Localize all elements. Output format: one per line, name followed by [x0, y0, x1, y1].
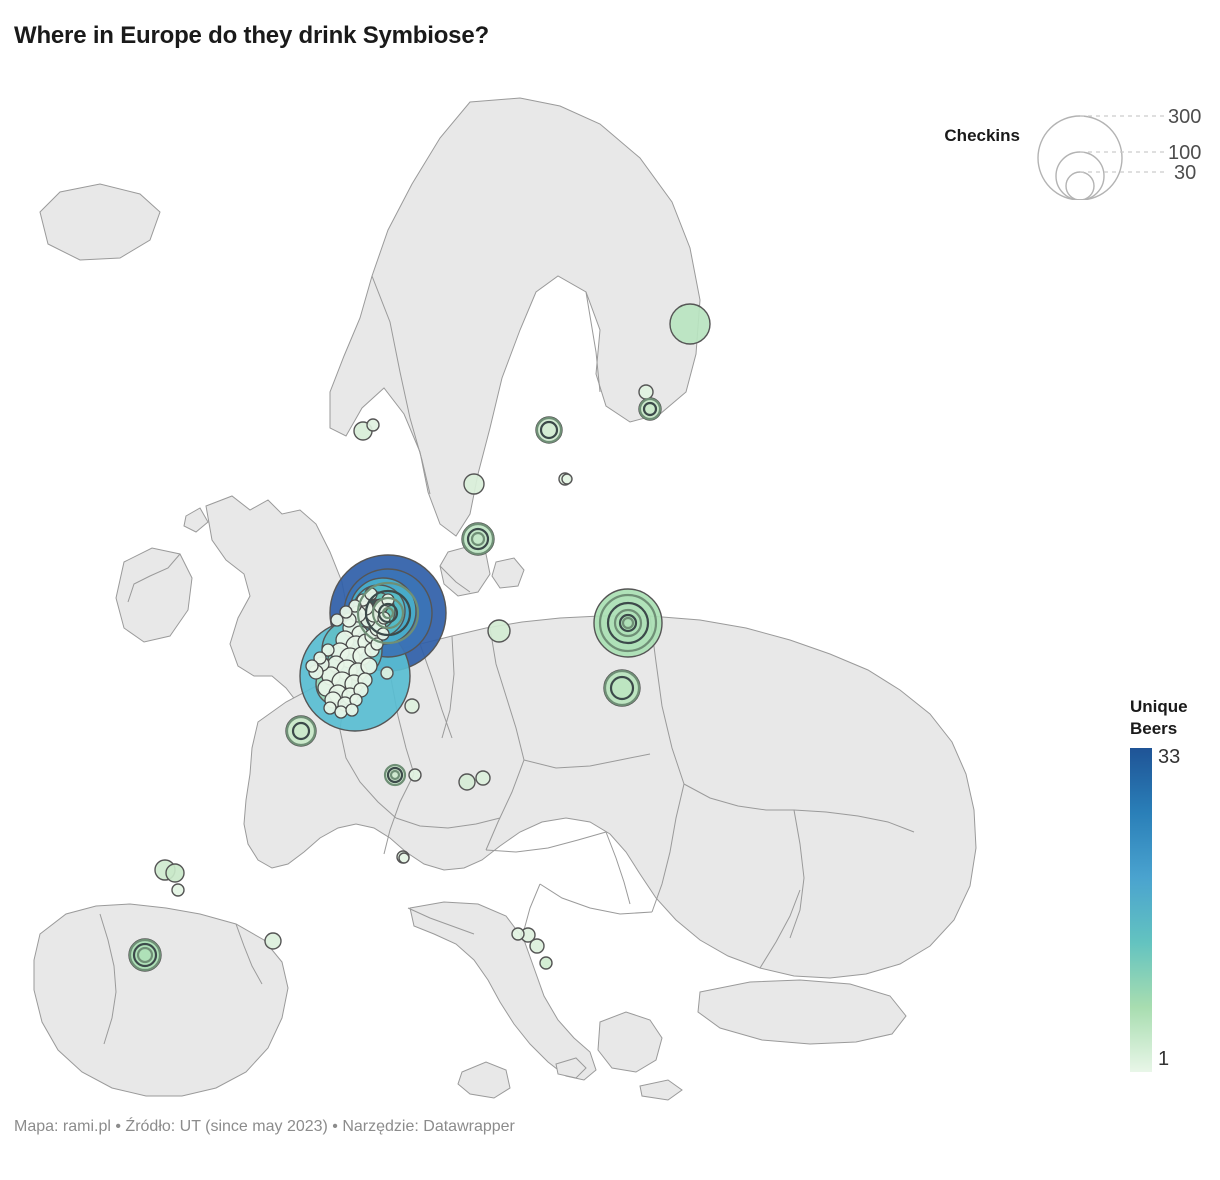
map-bubble[interactable]	[459, 774, 475, 790]
map-bubble[interactable]	[306, 660, 318, 672]
map-bubble[interactable]	[331, 614, 343, 626]
size-legend-label: Checkins	[944, 126, 1020, 146]
map-bubble[interactable]	[594, 589, 662, 657]
map-bubble[interactable]	[172, 884, 184, 896]
color-legend: UniqueBeers 33 1	[1124, 696, 1220, 1096]
size-tick-300: 300	[1168, 106, 1201, 129]
color-legend-title-line1: Unique	[1130, 697, 1188, 716]
symbol-map-chart: Where in Europe do they drink Symbiose?	[0, 0, 1220, 1180]
size-tick-30: 30	[1174, 162, 1196, 185]
map-bubble[interactable]	[399, 853, 409, 863]
map-bubble[interactable]	[409, 769, 421, 781]
map-bubble[interactable]	[476, 771, 490, 785]
map-bubble[interactable]	[488, 620, 510, 642]
map-bubble[interactable]	[670, 304, 710, 344]
map-bubble[interactable]	[166, 864, 184, 882]
landmasses	[34, 98, 976, 1100]
color-gradient-bar	[1130, 748, 1152, 1072]
map-canvas[interactable]	[0, 62, 1220, 1102]
color-tick-max: 33	[1158, 746, 1180, 769]
color-legend-title-line2: Beers	[1130, 719, 1177, 738]
map-bubble[interactable]	[464, 474, 484, 494]
map-bubble[interactable]	[562, 474, 572, 484]
color-legend-title: UniqueBeers	[1130, 696, 1220, 740]
map-bubble[interactable]	[530, 939, 544, 953]
size-legend: Checkins 300 100 30	[900, 80, 1220, 200]
map-svg	[0, 62, 1220, 1102]
map-bubble[interactable]	[335, 706, 347, 718]
map-bubble[interactable]	[367, 419, 379, 431]
map-bubble[interactable]	[639, 385, 653, 399]
chart-footer: Mapa: rami.pl • Źródło: UT (since may 20…	[14, 1118, 515, 1136]
map-bubble[interactable]	[265, 933, 281, 949]
map-bubble[interactable]	[405, 699, 419, 713]
map-bubble[interactable]	[540, 957, 552, 969]
map-bubble[interactable]	[512, 928, 524, 940]
color-tick-min: 1	[1158, 1048, 1169, 1071]
map-bubble[interactable]	[324, 702, 336, 714]
page-title: Where in Europe do they drink Symbiose?	[14, 22, 489, 50]
map-bubble[interactable]	[346, 704, 358, 716]
map-bubble[interactable]	[381, 667, 393, 679]
map-bubble[interactable]	[361, 658, 377, 674]
